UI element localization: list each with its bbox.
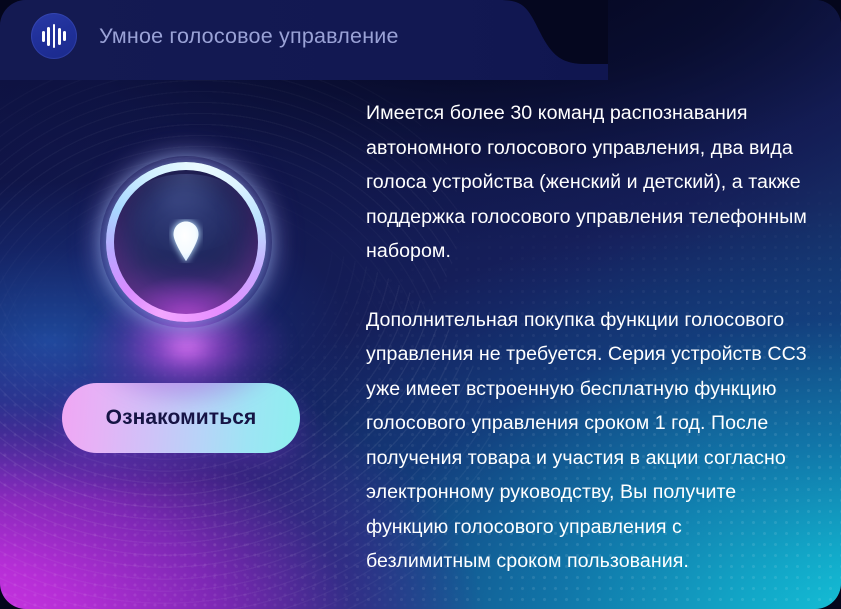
description-block: Имеется более 30 команд распознавания ав… [366, 96, 810, 579]
learn-more-button[interactable]: Ознакомиться [62, 383, 300, 453]
page-title: Умное голосовое управление [99, 24, 399, 49]
location-pin-icon [169, 219, 203, 263]
description-paragraph-1: Имеется более 30 команд распознавания ав… [366, 96, 810, 269]
voice-assistant-orb [96, 152, 276, 332]
header-content-row: Умное голосовое управление [0, 0, 399, 72]
card-header: Умное голосовое управление [0, 0, 608, 72]
description-paragraph-2: Дополнительная покупка функции голосовог… [366, 303, 810, 579]
voice-waveform-icon [31, 13, 77, 59]
voice-control-promo-card: Умное голосовое управление Ознако [0, 0, 841, 609]
